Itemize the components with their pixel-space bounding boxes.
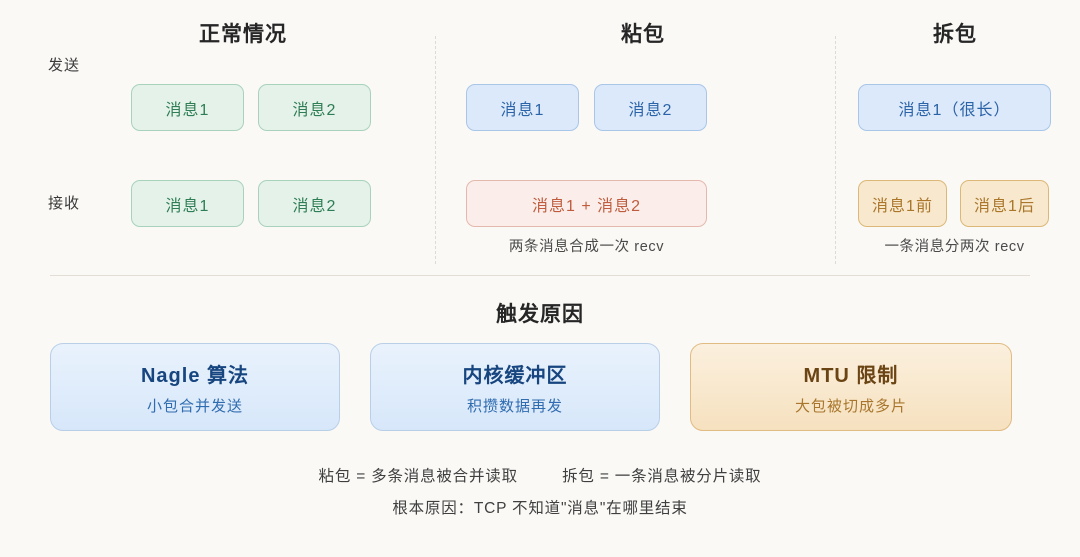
chip-sticky-send-2: 消息2: [594, 84, 707, 131]
chip-normal-send-1: 消息1: [131, 84, 244, 131]
cause-card-nagle-title: Nagle 算法: [141, 359, 249, 388]
chip-sticky-send-1: 消息1: [466, 84, 579, 131]
row-label-receive: 接收: [48, 192, 80, 213]
footer-line-1: 粘包 = 多条消息被合并读取 拆包 = 一条消息被分片读取: [0, 464, 1080, 486]
chip-normal-send-2: 消息2: [258, 84, 371, 131]
causes-heading: 触发原因: [440, 298, 640, 328]
chip-normal-recv-1: 消息1: [131, 180, 244, 227]
cause-card-nagle[interactable]: Nagle 算法 小包合并发送: [50, 343, 340, 431]
row-label-send: 发送: [48, 54, 80, 75]
panel-title-split: 拆包: [865, 18, 1045, 48]
footer-sticky-definition: 粘包 = 多条消息被合并读取: [319, 468, 518, 485]
panel-divider-right: [835, 36, 836, 264]
section-divider: [50, 275, 1030, 276]
panel-title-sticky: 粘包: [553, 18, 733, 48]
cause-card-nagle-subtitle: 小包合并发送: [147, 395, 243, 416]
chip-sticky-recv-merged: 消息1 + 消息2: [466, 180, 707, 227]
panel-title-normal: 正常情况: [153, 18, 333, 48]
cause-card-mtu-title: MTU 限制: [804, 359, 899, 388]
cause-card-mtu-subtitle: 大包被切成多片: [795, 395, 907, 416]
footer-split-definition: 拆包 = 一条消息被分片读取: [562, 468, 761, 485]
chip-split-send-long: 消息1（很长）: [858, 84, 1051, 131]
caption-split: 一条消息分两次 recv: [858, 235, 1051, 256]
panel-divider-left: [435, 36, 436, 264]
cause-card-mtu[interactable]: MTU 限制 大包被切成多片: [690, 343, 1012, 431]
caption-sticky: 两条消息合成一次 recv: [466, 235, 707, 256]
cause-card-kernel-buffer-title: 内核缓冲区: [463, 359, 568, 388]
chip-split-recv-2: 消息1后: [960, 180, 1049, 227]
diagram-canvas: 正常情况 粘包 拆包 发送 接收 消息1 消息2 消息1 消息2 消息1 消息2…: [0, 0, 1080, 557]
cause-card-kernel-buffer-subtitle: 积攒数据再发: [467, 395, 563, 416]
chip-normal-recv-2: 消息2: [258, 180, 371, 227]
footer-root-cause: 根本原因：TCP 不知道"消息"在哪里结束: [0, 496, 1080, 518]
chip-split-recv-1: 消息1前: [858, 180, 947, 227]
cause-card-kernel-buffer[interactable]: 内核缓冲区 积攒数据再发: [370, 343, 660, 431]
